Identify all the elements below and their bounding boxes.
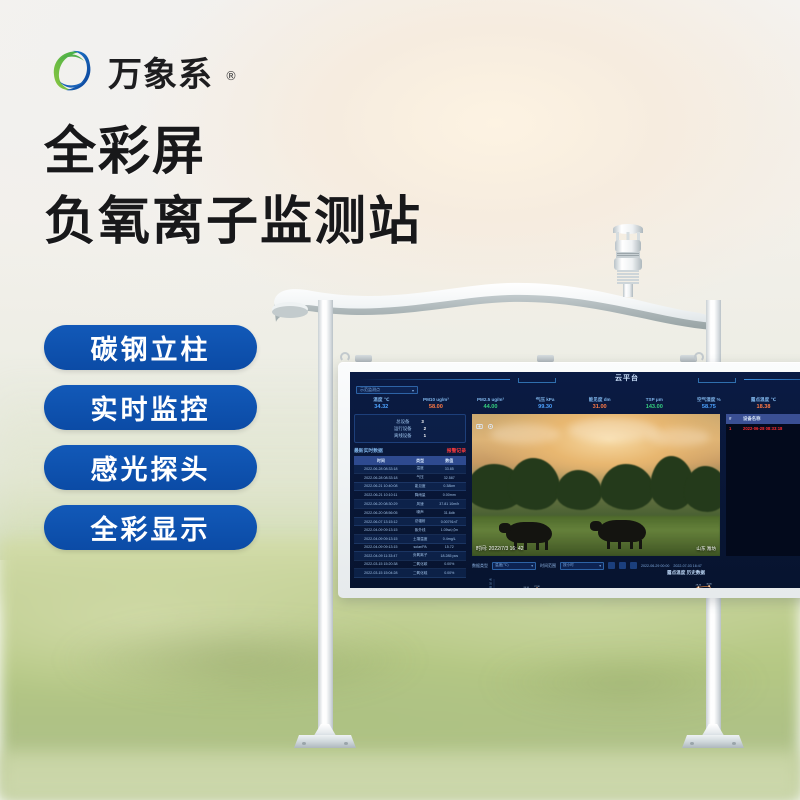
table-row[interactable]: 2022-06-28 08:33:18气压32.587 <box>354 473 466 482</box>
sidebar: 总设备 3 运行设备 2 离线设备 1 最新实时数据 报警记录 <box>354 414 466 578</box>
cell-time: 2022-06-21 10:40:08 <box>354 482 408 491</box>
cell-time: 2022-06-20 08:30:29 <box>354 500 408 509</box>
svg-text:40: 40 <box>489 577 492 581</box>
table-row[interactable]: 2022-03-15 15:04:28二氧化硫0.00% <box>354 569 466 578</box>
table-row[interactable]: 2022-06-21 10:10:11降雨量0.00mm <box>354 491 466 500</box>
history-line-chart: 051015202530354011.2014.6018.2026.1027.9… <box>472 576 800 588</box>
cell-type: 温度 <box>408 465 433 473</box>
table-row[interactable]: 2022-06-20 08:30:29风速37.81 10m/h <box>354 500 466 509</box>
metric-value: 31.00 <box>572 403 627 412</box>
table-row[interactable]: 2022-06-07 13:15:12总辐射0.00791nT <box>354 517 466 526</box>
cell-type: 土壤温度 <box>408 535 433 544</box>
metric-label: TSP μm <box>627 396 682 403</box>
table-row[interactable]: 2022-06-20 08:56:05噪声31.6db <box>354 508 466 517</box>
col-time: 时间 <box>354 456 408 465</box>
metrics-row: 温度 ℃ 34.32 PM10 ug/m³ 58.00 PM2.5 ug/m³ … <box>354 396 800 412</box>
cell-time: 2022-04-09 09:13:15 <box>354 535 408 544</box>
cell-time: 2022-06-28 08:33:18 <box>354 473 408 482</box>
cell-time: 2022-03-15 15:20:38 <box>354 560 408 569</box>
alarm-col-device: 设备名称 <box>743 416 800 422</box>
chart-type-select[interactable]: 温度(℃) ▾ <box>492 562 536 570</box>
mount-tab-2 <box>537 355 554 362</box>
device-stats-box: 总设备 3 运行设备 2 离线设备 1 <box>354 414 466 443</box>
metric-label: PM2.5 ug/m³ <box>463 396 518 403</box>
stat-label: 离线设备 <box>394 432 412 439</box>
alarm-col-index: # <box>729 416 743 422</box>
stat-value: 2 <box>424 425 426 432</box>
cell-type: 降雨量 <box>408 491 433 500</box>
alarm-device: 2022-06-28 08:33:18 <box>743 426 800 432</box>
grid-view-icon[interactable] <box>608 562 615 569</box>
camera-feed[interactable]: 时间: 2022/7/3 16: 42 山东 潍坊 <box>472 414 720 556</box>
list-view-icon[interactable] <box>619 562 626 569</box>
metric-label: 噪声 db <box>791 396 800 403</box>
alarm-panel: # 设备名称 报警内容 1 2022-06-28 08:33:18 温度超出阈值… <box>726 414 800 556</box>
cell-type: 二氧化硫 <box>408 569 433 578</box>
sidebar-title: 最新实时数据 <box>354 447 383 454</box>
table-body: 2022-06-28 08:33:18温度33.852022-06-28 08:… <box>354 465 466 578</box>
metric-pressure: 气压 kPa 99.30 <box>518 396 573 412</box>
metric-value: 44.00 <box>463 403 518 412</box>
col-value: 数值 <box>433 456 466 465</box>
metric-label: 露点温度 ℃ <box>736 396 791 403</box>
cell-time: 2022-03-15 15:04:28 <box>354 569 408 578</box>
mount-hook-left <box>340 352 350 362</box>
stat-value: 1 <box>424 432 426 439</box>
cell-time: 2022-04-09 09:13:15 <box>354 544 408 552</box>
cell-value: 1.05w/㎡m <box>433 526 466 535</box>
cell-time: 2022-04-09 09:13:15 <box>354 526 408 535</box>
col-type: 类型 <box>408 456 433 465</box>
table-row[interactable]: 2022-06-21 10:40:08能见度0.38km <box>354 482 466 491</box>
metric-value: 58.75 <box>682 403 737 412</box>
cell-type: 负氧离子 <box>408 551 433 560</box>
chart-range-label: 时间范围 <box>540 563 556 569</box>
stat-value: 3 <box>421 418 423 425</box>
table-row[interactable]: 2022-04-09 11:33:47负氧离子18.285 pcs <box>354 551 466 560</box>
cattle-2 <box>598 520 646 542</box>
alarm-records-link[interactable]: 报警记录 <box>447 447 466 454</box>
history-chart-section: 数据类型 温度(℃) ▾ 时间范围 按小时 ▾ 2022-06-29 00:00… <box>472 560 800 588</box>
svg-text:30.80: 30.80 <box>706 584 712 586</box>
alarm-index: 1 <box>729 426 743 432</box>
table-row[interactable]: 2022-06-28 08:33:18温度33.85 <box>354 465 466 473</box>
chevron-down-icon: ▾ <box>412 388 414 393</box>
dashboard-screen[interactable]: 云平台 示范监测点 ▾ 2022/07/03 16:42 在线 温度 ℃ 34.… <box>350 372 800 588</box>
cell-time: 2022-06-28 08:33:18 <box>354 465 408 473</box>
metric-label: 气压 kPa <box>518 396 573 403</box>
cell-value: 0.4mg/L <box>433 535 466 544</box>
sidebar-header: 最新实时数据 报警记录 <box>354 447 466 454</box>
table-row[interactable]: 2022-04-09 09:13:15紫外线1.05w/㎡m <box>354 526 466 535</box>
cell-value: 37.81 10m/h <box>433 500 466 509</box>
table-row[interactable]: 2022-03-15 15:20:38二氧化碳0.00% <box>354 560 466 569</box>
cell-type: 紫外线 <box>408 526 433 535</box>
dashboard-header: 云平台 <box>350 372 800 386</box>
station-select[interactable]: 示范监测点 ▾ <box>356 386 418 394</box>
camera-channel-tag: 山东 潍坊 <box>696 546 716 552</box>
svg-text:30: 30 <box>489 585 492 588</box>
metric-noise: 噪声 db 48.00 <box>791 396 800 412</box>
metric-humidity: 空气湿度 % 58.75 <box>682 396 737 412</box>
alarm-header-row: # 设备名称 报警内容 <box>726 414 800 424</box>
metric-label: 能见度 dm <box>572 396 627 403</box>
stat-running: 运行设备 2 <box>359 425 461 432</box>
cell-value: 0.00mm <box>433 491 466 500</box>
metric-dewpoint: 露点温度 ℃ 18.38 <box>736 396 791 412</box>
cell-value: 0.00% <box>433 560 466 569</box>
metric-value: 58.00 <box>409 403 464 412</box>
cell-type: 能见度 <box>408 482 433 491</box>
svg-text:35: 35 <box>489 581 492 585</box>
cell-time: 2022-06-21 10:10:11 <box>354 491 408 500</box>
chart-range-select[interactable]: 按小时 ▾ <box>560 562 604 570</box>
metric-label: PM10 ug/m³ <box>409 396 464 403</box>
cell-type: 噪声 <box>408 508 433 517</box>
ultrasonic-weather-sensor-icon <box>604 222 652 297</box>
pole-base-left <box>294 726 356 748</box>
metric-label: 温度 ℃ <box>354 396 409 403</box>
cell-time: 2022-06-20 08:56:05 <box>354 508 408 517</box>
table-header-row: 时间 类型 数值 <box>354 456 466 465</box>
cell-type: 气压 <box>408 473 433 482</box>
cell-type: 总辐射 <box>408 517 433 526</box>
metric-temperature: 温度 ℃ 34.32 <box>354 396 409 412</box>
stat-total: 总设备 3 <box>359 418 461 425</box>
chart-type-label: 数据类型 <box>472 563 488 569</box>
metric-visibility: 能见度 dm 31.00 <box>572 396 627 412</box>
stat-label: 总设备 <box>396 418 409 425</box>
realtime-data-table: 时间 类型 数值 2022-06-28 08:33:18温度33.852022-… <box>354 456 466 578</box>
mount-tab-1 <box>355 355 372 362</box>
cell-value: 31.6db <box>433 508 466 517</box>
cell-value: 18.285 pcs <box>433 551 466 560</box>
table-row[interactable]: 2022-04-09 09:13:15solar/PA15.72 <box>354 544 466 552</box>
cell-type: 二氧化碳 <box>408 560 433 569</box>
table-row[interactable]: 2022-04-09 09:13:15土壤温度0.4mg/L <box>354 535 466 544</box>
cell-type: solar/PA <box>408 544 433 552</box>
calendar-icon[interactable] <box>630 562 637 569</box>
chevron-down-icon: ▾ <box>599 564 601 568</box>
camera-timestamp: 时间: 2022/7/3 16: 42 <box>476 545 524 552</box>
chart-range-value: 按小时 <box>563 563 574 568</box>
stat-label: 运行设备 <box>394 425 412 432</box>
metric-value: 48.00 <box>791 403 800 412</box>
cell-value: 33.85 <box>433 465 466 473</box>
cell-value: 0.00% <box>433 569 466 578</box>
svg-text:29.40: 29.40 <box>696 585 702 587</box>
cell-value: 0.38km <box>433 482 466 491</box>
alarm-row[interactable]: 1 2022-06-28 08:33:18 温度超出阈值 报警值超过上限值 <box>726 424 800 434</box>
mount-hook-right <box>694 352 704 362</box>
metric-tsp: TSP μm 143.00 <box>627 396 682 412</box>
pole-base-right <box>682 726 744 748</box>
chevron-down-icon: ▾ <box>531 564 533 568</box>
svg-text:27.90: 27.90 <box>534 586 540 588</box>
metric-value: 18.38 <box>736 403 791 412</box>
metric-value: 143.00 <box>627 403 682 412</box>
svg-text:26.10: 26.10 <box>524 587 530 588</box>
metric-label: 空气湿度 % <box>682 396 737 403</box>
monitoring-station: 云平台 示范监测点 ▾ 2022/07/03 16:42 在线 温度 ℃ 34.… <box>0 0 800 800</box>
metric-value: 34.32 <box>354 403 409 412</box>
cell-time: 2022-04-09 11:33:47 <box>354 551 408 560</box>
stat-offline: 离线设备 1 <box>359 432 461 439</box>
cell-value: 32.587 <box>433 473 466 482</box>
cattle-1 <box>506 522 552 543</box>
station-select-value: 示范监测点 <box>360 387 380 393</box>
cell-value: 0.00791nT <box>433 517 466 526</box>
carbon-steel-pole-left <box>318 300 333 740</box>
cell-type: 风速 <box>408 500 433 509</box>
cell-value: 15.72 <box>433 544 466 552</box>
metric-pm25: PM2.5 ug/m³ 44.00 <box>463 396 518 412</box>
chart-type-value: 温度(℃) <box>495 563 509 568</box>
camera-snapshot-icon[interactable] <box>476 417 483 424</box>
chart-start-time[interactable]: 2022-06-29 00:00 <box>641 564 669 568</box>
cell-time: 2022-06-07 13:15:12 <box>354 517 408 526</box>
metric-value: 99.30 <box>518 403 573 412</box>
chart-end-time[interactable]: 2022-07-03 16:47 <box>673 564 701 568</box>
camera-settings-icon[interactable] <box>487 417 494 424</box>
metric-pm10: PM10 ug/m³ 58.00 <box>409 396 464 412</box>
